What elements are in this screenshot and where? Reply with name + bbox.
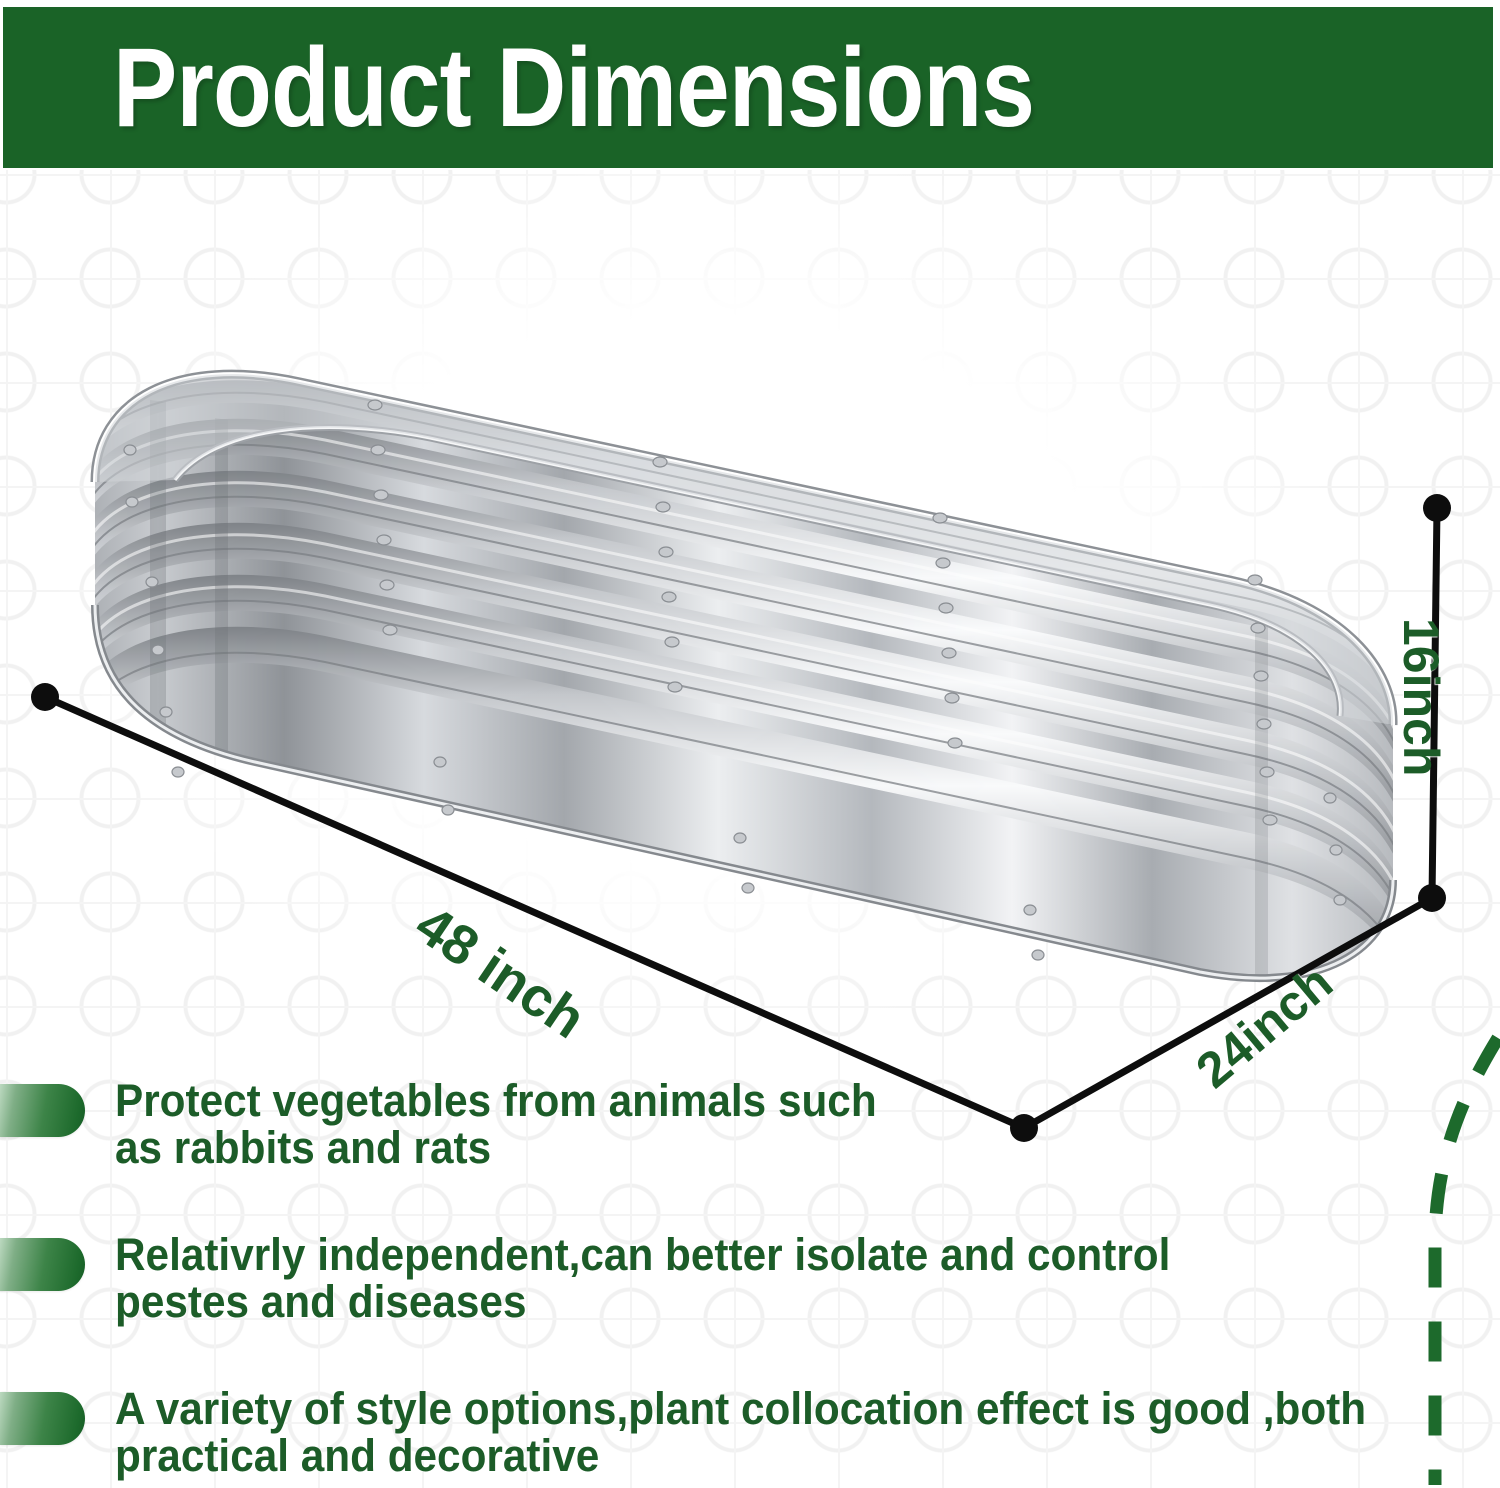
feature-item: Protect vegetables from animals such as …: [0, 1078, 925, 1172]
bullet-marker-icon: [0, 1084, 85, 1137]
feature-item: A variety of style options,plant colloca…: [0, 1386, 1446, 1480]
feature-item: Relativrly independent,can better isolat…: [0, 1232, 1238, 1326]
header-banner: Product Dimensions: [3, 7, 1493, 168]
garden-bed-body: [60, 300, 1450, 1060]
bullet-marker-icon: [0, 1238, 85, 1291]
product-illustration: [0, 150, 1450, 1160]
bullet-marker-icon: [0, 1392, 85, 1445]
product-dimensions-infographic: Product Dimensions: [0, 0, 1500, 1488]
page-title: Product Dimensions: [113, 32, 1034, 144]
feature-text: A variety of style options,plant colloca…: [115, 1386, 1366, 1480]
feature-text: Relativrly independent,can better isolat…: [115, 1232, 1170, 1326]
feature-text: Protect vegetables from animals such as …: [115, 1078, 877, 1172]
dimension-label-height: 16inch: [1392, 618, 1450, 776]
